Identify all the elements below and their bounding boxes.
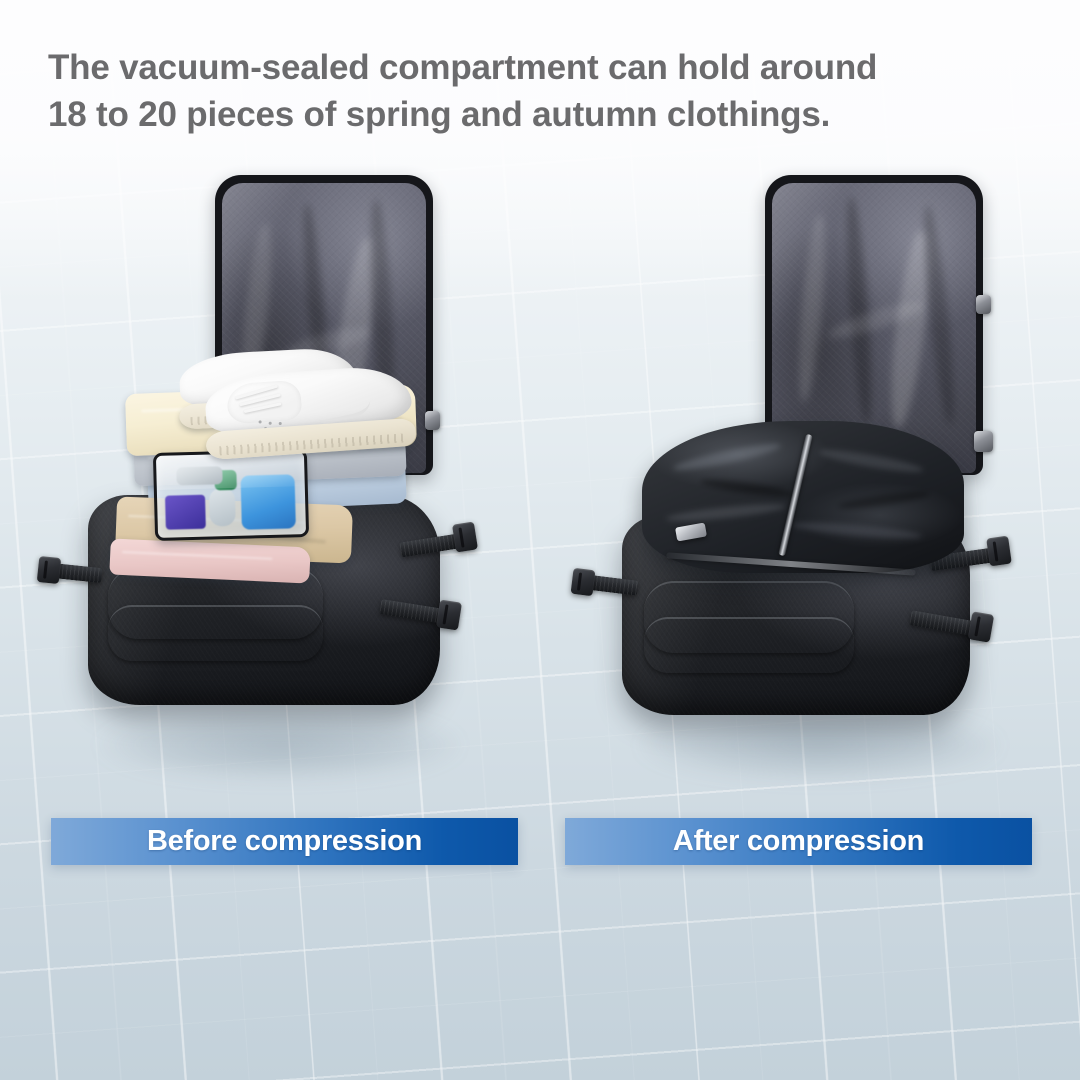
front-pocket-seam-lower (108, 605, 323, 661)
strap-buckle-left (570, 568, 595, 596)
lid-d-ring-upper (976, 295, 991, 314)
page-title: The vacuum-sealed compartment can hold a… (48, 44, 968, 138)
strap-buckle-left (37, 556, 62, 584)
vacuum-compression-bag (642, 421, 964, 573)
strap-buckle-right-upper (452, 521, 478, 552)
clear-toiletry-pouch (153, 449, 309, 541)
strap-buckle-right-lower (968, 611, 995, 642)
lid-d-ring (425, 411, 440, 430)
product-photo-after-compression (570, 165, 1070, 815)
poster-canvas: The vacuum-sealed compartment can hold a… (0, 0, 1080, 1080)
front-pocket-seam-lower (644, 617, 854, 673)
caption-label-after: After compression (673, 825, 924, 858)
drop-shadow (640, 710, 1000, 780)
product-photo-before-compression (30, 165, 530, 815)
caption-label-before: Before compression (147, 825, 422, 858)
caption-banner-before: Before compression (51, 818, 518, 865)
zipper-pull-tab (675, 523, 707, 542)
strap-buckle-right-upper (986, 536, 1012, 567)
strap-buckle-right-lower (436, 599, 462, 630)
lid-d-ring-lower (974, 431, 993, 452)
drop-shadow (100, 710, 460, 780)
caption-banner-after: After compression (565, 818, 1032, 865)
sneaker-front (203, 364, 414, 460)
